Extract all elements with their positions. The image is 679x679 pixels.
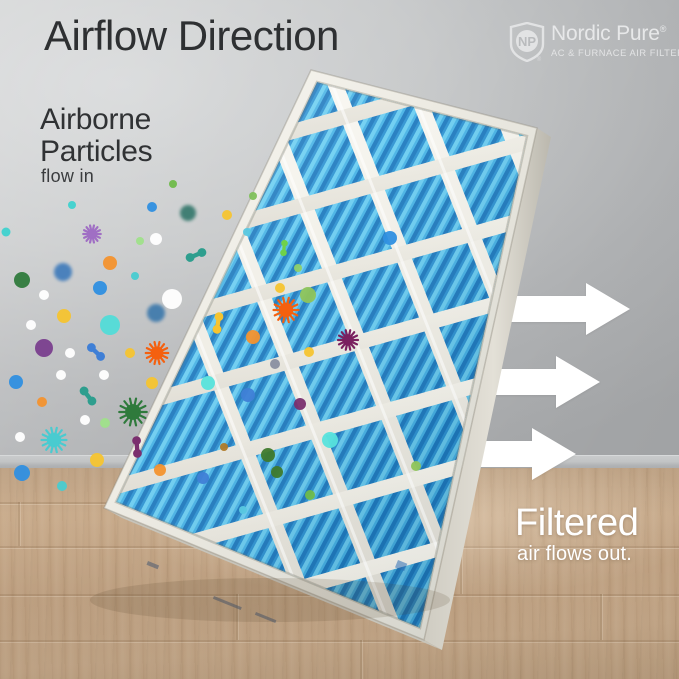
airborne-particles-label: Airborne Particles (40, 104, 152, 169)
page-title: Airflow Direction (44, 14, 339, 59)
brand-tagline: AC & FURNACE AIR FILTERS (551, 48, 679, 58)
filter-frame-shading (104, 70, 537, 640)
brand-logo[interactable]: NP ® Nordic Pure® AC & FURNACE AIR FILTE… (509, 21, 669, 65)
shield-icon: NP ® (509, 22, 545, 62)
brand-name-text: Nordic Pure (551, 22, 660, 45)
logo-text-block: Nordic Pure® AC & FURNACE AIR FILTERS (551, 23, 679, 58)
filtered-sublabel: air flows out. (517, 543, 632, 566)
pleated-air-filter (0, 0, 679, 679)
brand-name: Nordic Pure® (551, 23, 679, 44)
filtered-label: Filtered (515, 502, 639, 545)
shield-badge-text: NP (518, 34, 536, 49)
airflow-direction-infographic: Airflow Direction Airborne Particles flo… (0, 0, 679, 679)
filter-floor-shadow (90, 578, 450, 622)
flow-in-label: flow in (41, 166, 94, 187)
airborne-line-2: Particles (40, 136, 152, 168)
registered-mark: ® (660, 24, 666, 34)
svg-text:®: ® (537, 56, 542, 62)
airborne-line-1: Airborne (40, 104, 152, 136)
